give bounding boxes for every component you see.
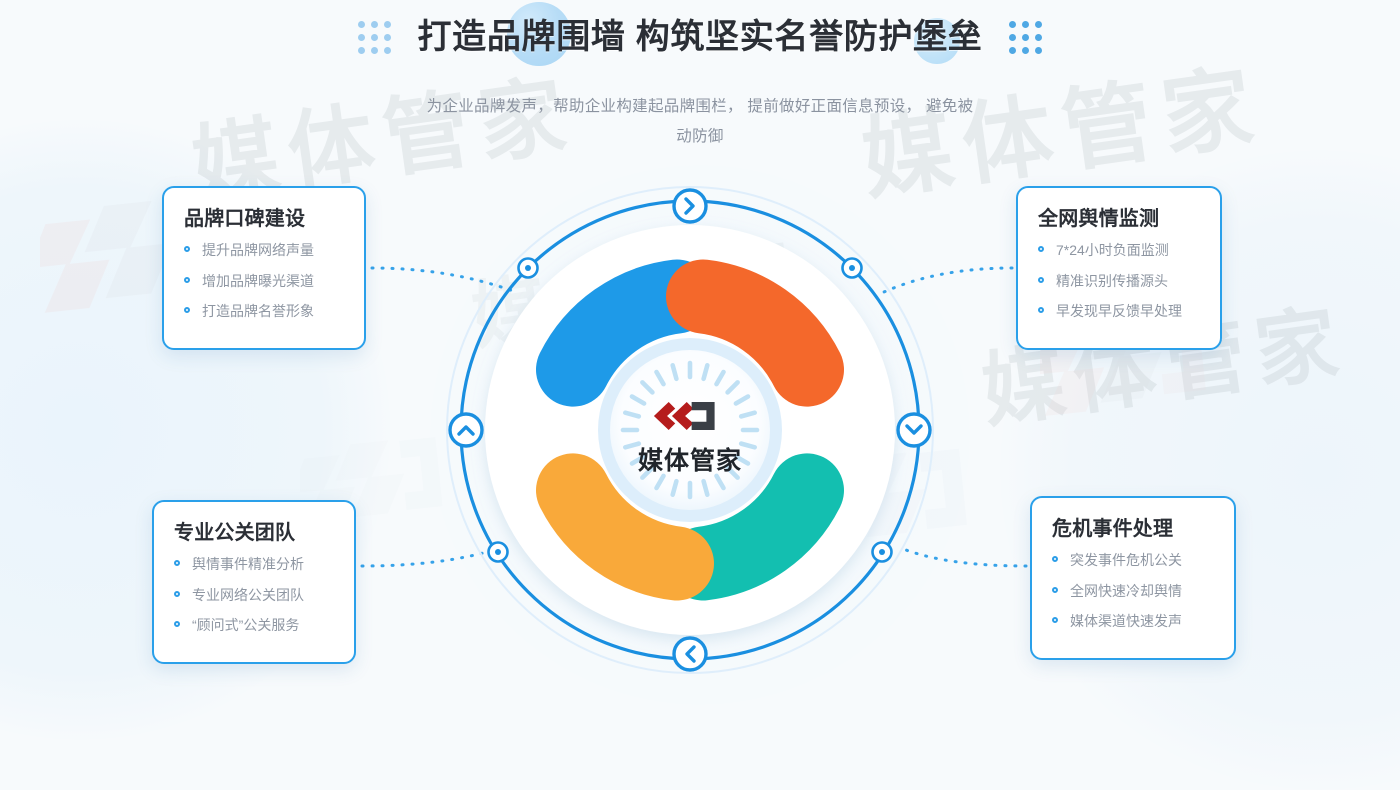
list-item: 打造品牌名誉形象 bbox=[184, 301, 344, 323]
list-item: 舆情事件精准分析 bbox=[174, 554, 334, 576]
list-item: 提升品牌网络声量 bbox=[184, 240, 344, 262]
card-monitor[interactable]: 全网舆情监测 7*24小时负面监测 精准识别传播源头 早发现早反馈早处理 bbox=[1016, 186, 1222, 350]
card-item-list: 突发事件危机公关 全网快速冷却舆情 媒体渠道快速发声 bbox=[1052, 550, 1214, 633]
badge-top[interactable] bbox=[674, 190, 706, 222]
page-title: 打造品牌围墙 构筑坚实名誉防护堡垒 bbox=[417, 20, 982, 54]
card-item-list: 提升品牌网络声量 增加品牌曝光渠道 打造品牌名誉形象 bbox=[184, 240, 344, 323]
card-pr[interactable]: 专业公关团队 舆情事件精准分析 专业网络公关团队 “顾问式”公关服务 bbox=[152, 500, 356, 664]
card-title: 危机事件处理 bbox=[1052, 512, 1214, 541]
card-title: 全网舆情监测 bbox=[1038, 202, 1200, 231]
list-item: 突发事件危机公关 bbox=[1052, 550, 1214, 572]
list-item: 7*24小时负面监测 bbox=[1038, 240, 1200, 262]
infographic-canvas: 媒体管家 媒体管家 媒体管家 媒体管家 打造品牌围墙 构 bbox=[0, 0, 1400, 700]
card-title: 专业公关团队 bbox=[174, 516, 334, 545]
badge-right[interactable] bbox=[898, 414, 930, 446]
badge-bottom[interactable] bbox=[674, 638, 706, 670]
list-item: “顾问式”公关服务 bbox=[174, 615, 334, 637]
badge-left[interactable] bbox=[450, 414, 482, 446]
segment-wheel: 媒体管家 bbox=[440, 180, 940, 680]
list-item: 早发现早反馈早处理 bbox=[1038, 301, 1200, 323]
list-item: 全网快速冷却舆情 bbox=[1052, 581, 1214, 603]
ring-node-top-right[interactable] bbox=[843, 259, 862, 278]
dot-grid-icon bbox=[1009, 21, 1042, 54]
list-item: 增加品牌曝光渠道 bbox=[184, 271, 344, 293]
ring-node-bottom-right[interactable] bbox=[873, 543, 892, 562]
card-crisis[interactable]: 危机事件处理 突发事件危机公关 全网快速冷却舆情 媒体渠道快速发声 bbox=[1030, 496, 1236, 660]
card-item-list: 舆情事件精准分析 专业网络公关团队 “顾问式”公关服务 bbox=[174, 554, 334, 637]
list-item: 媒体渠道快速发声 bbox=[1052, 611, 1214, 633]
list-item: 专业网络公关团队 bbox=[174, 585, 334, 607]
ring-node-top-left[interactable] bbox=[519, 259, 538, 278]
dot-grid-icon bbox=[358, 21, 391, 54]
card-brand[interactable]: 品牌口碑建设 提升品牌网络声量 增加品牌曝光渠道 打造品牌名誉形象 bbox=[162, 186, 366, 350]
ring-node-bottom-left[interactable] bbox=[489, 543, 508, 562]
card-item-list: 7*24小时负面监测 精准识别传播源头 早发现早反馈早处理 bbox=[1038, 240, 1200, 323]
list-item: 精准识别传播源头 bbox=[1038, 271, 1200, 293]
center-brand-text: 媒体管家 bbox=[638, 446, 742, 475]
card-title: 品牌口碑建设 bbox=[184, 202, 344, 231]
